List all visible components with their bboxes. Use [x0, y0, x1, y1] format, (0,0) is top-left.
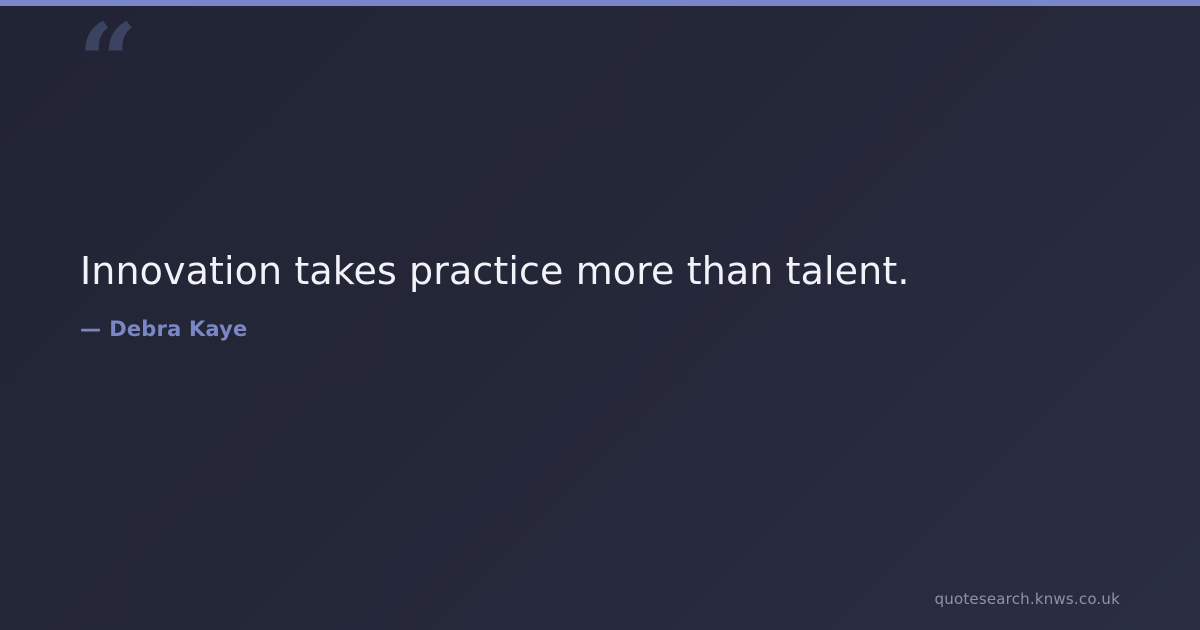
quote-text: Innovation takes practice more than tale…	[80, 246, 1120, 296]
attribution-author: Debra Kaye	[109, 317, 247, 341]
quote-attribution: —Debra Kaye	[80, 296, 1120, 341]
attribution-dash: —	[80, 317, 101, 341]
footer-site-url: quotesearch.knws.co.uk	[935, 590, 1120, 608]
quote-card: “ Innovation takes practice more than ta…	[0, 0, 1200, 630]
top-accent-bar	[0, 0, 1200, 6]
quotation-mark-icon: “	[78, 10, 136, 114]
quote-content: Innovation takes practice more than tale…	[80, 246, 1120, 341]
